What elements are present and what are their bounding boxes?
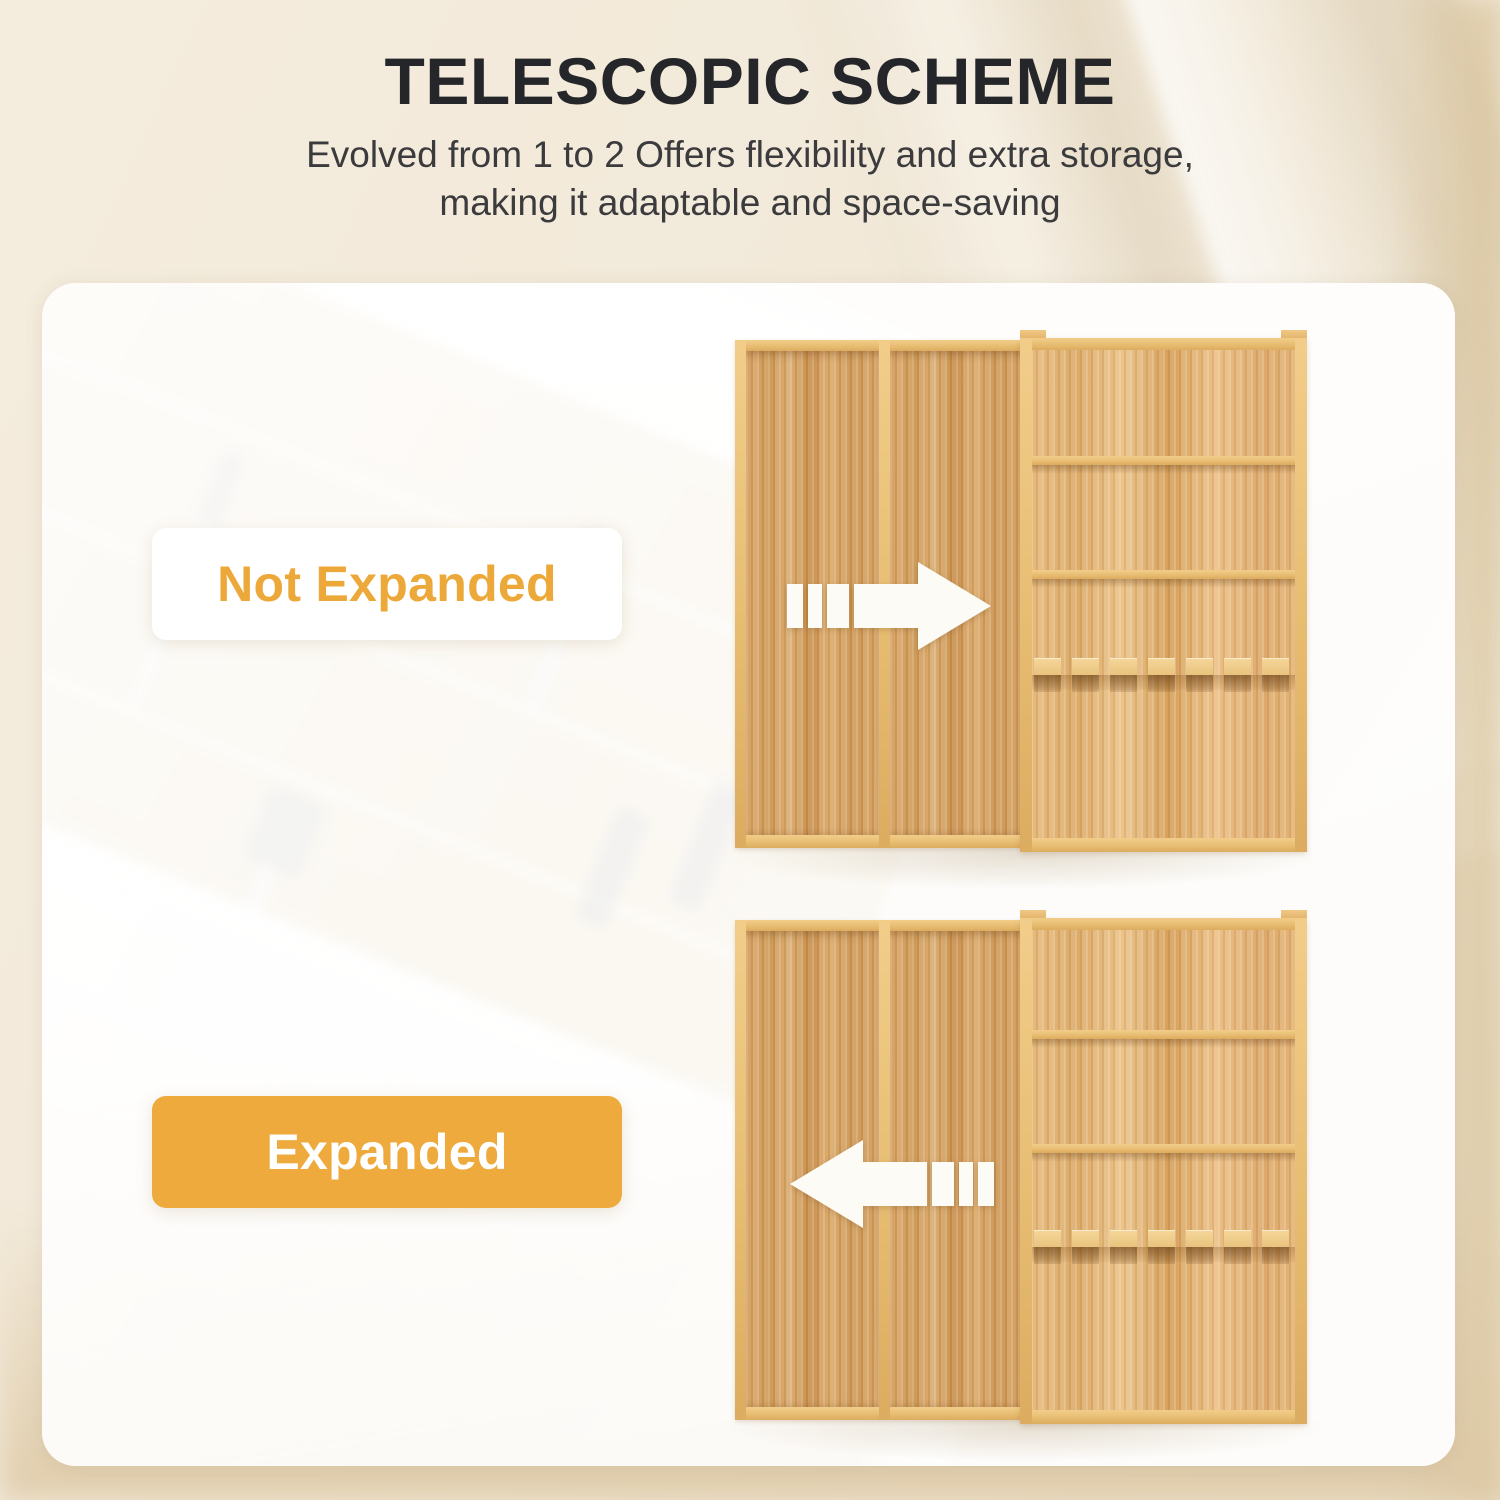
- subtitle-line-2: making it adaptable and space-saving: [0, 179, 1500, 226]
- left-tray-left-rail: [735, 920, 746, 1420]
- right-section-right-rail: [1295, 338, 1307, 852]
- page-subtitle: Evolved from 1 to 2 Offers flexibility a…: [0, 131, 1500, 226]
- label-expanded: Expanded: [152, 1096, 622, 1208]
- right-section-top-rail: [1020, 918, 1307, 930]
- knife-slot-row: [1032, 1230, 1295, 1264]
- knife-slot-row: [1032, 658, 1295, 692]
- header: TELESCOPIC SCHEME Evolved from 1 to 2 Of…: [0, 46, 1500, 226]
- right-section-left-rail: [1020, 338, 1032, 852]
- right-section-bottom-rail: [1020, 1410, 1307, 1424]
- left-tray-left-rail: [735, 340, 746, 848]
- right-section-bottom-rail: [1020, 838, 1307, 852]
- right-section-right-rail: [1295, 918, 1307, 1424]
- subtitle-line-1: Evolved from 1 to 2 Offers flexibility a…: [0, 131, 1500, 178]
- right-section-left-rail: [1020, 918, 1032, 1424]
- right-section-top-rail: [1020, 338, 1307, 350]
- arrow-right-dashed-tail-icon: [787, 558, 991, 654]
- shelf-divider-2: [1032, 570, 1295, 579]
- arrow-left-dashed-tail-icon: [790, 1136, 994, 1232]
- page-title: TELESCOPIC SCHEME: [0, 46, 1500, 117]
- shelf-divider-2: [1032, 1144, 1295, 1153]
- shelf-divider-1: [1032, 1030, 1295, 1039]
- label-not-expanded: Not Expanded: [152, 528, 622, 640]
- right-shelf-section-expanded: [1020, 918, 1307, 1424]
- shelf-divider-1: [1032, 456, 1295, 465]
- right-shelf-section-collapsed: [1020, 338, 1307, 852]
